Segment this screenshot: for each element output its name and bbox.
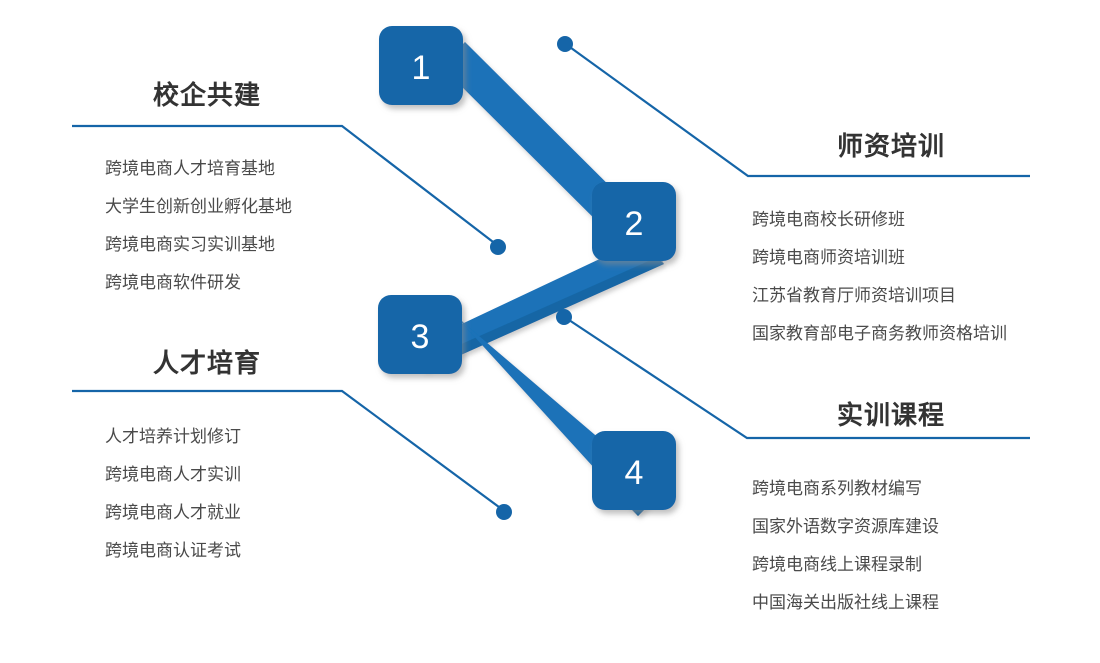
node-box-2-label: 2 bbox=[625, 205, 644, 243]
list-item: 跨境电商师资培训班 bbox=[752, 239, 1036, 277]
node-box-1-label: 1 bbox=[412, 49, 431, 87]
list-item: 跨境电商校长研修班 bbox=[752, 201, 1036, 239]
panel-training-course-heading: 实训课程 bbox=[746, 402, 1036, 428]
list-item: 跨境电商实习实训基地 bbox=[105, 226, 352, 264]
list-item: 中国海关出版社线上课程 bbox=[752, 584, 1036, 622]
list-item: 跨境电商人才实训 bbox=[105, 456, 352, 494]
node-box-3[interactable]: 3 bbox=[378, 295, 462, 374]
panel-school-enterprise-list: 跨境电商人才培育基地 大学生创新创业孵化基地 跨境电商实习实训基地 跨境电商软件… bbox=[105, 150, 352, 302]
node-box-3-label: 3 bbox=[411, 318, 430, 356]
list-item: 跨境电商系列教材编写 bbox=[752, 470, 1036, 508]
list-item: 江苏省教育厅师资培训项目 bbox=[752, 277, 1036, 315]
panel-training-course-list: 跨境电商系列教材编写 国家外语数字资源库建设 跨境电商线上课程录制 中国海关出版… bbox=[752, 470, 1036, 622]
panel-teacher-training-list: 跨境电商校长研修班 跨境电商师资培训班 江苏省教育厅师资培训项目 国家教育部电子… bbox=[752, 201, 1036, 353]
leader-dot-training-course bbox=[556, 309, 572, 325]
infographic-canvas: 1 2 3 4 bbox=[0, 0, 1100, 663]
list-item: 国家教育部电子商务教师资格培训 bbox=[752, 315, 1036, 353]
node-box-4-label: 4 bbox=[625, 454, 644, 492]
panel-talent-cultivation: 人才培育 人才培养计划修订 跨境电商人才实训 跨境电商人才就业 跨境电商认证考试 bbox=[62, 350, 352, 570]
panel-talent-cultivation-heading: 人才培育 bbox=[62, 350, 352, 376]
panel-teacher-training-heading: 师资培训 bbox=[746, 133, 1036, 159]
panel-school-enterprise-heading: 校企共建 bbox=[62, 82, 352, 108]
list-item: 跨境电商人才就业 bbox=[105, 494, 352, 532]
leader-dot-school-enterprise bbox=[490, 239, 506, 255]
list-item: 跨境电商软件研发 bbox=[105, 264, 352, 302]
leader-dot-teacher-training bbox=[557, 36, 573, 52]
list-item: 跨境电商人才培育基地 bbox=[105, 150, 352, 188]
node-box-4[interactable]: 4 bbox=[592, 431, 676, 510]
panel-training-course: 实训课程 跨境电商系列教材编写 国家外语数字资源库建设 跨境电商线上课程录制 中… bbox=[746, 402, 1036, 622]
panel-school-enterprise: 校企共建 跨境电商人才培育基地 大学生创新创业孵化基地 跨境电商实习实训基地 跨… bbox=[62, 82, 352, 302]
list-item: 跨境电商认证考试 bbox=[105, 532, 352, 570]
list-item: 跨境电商线上课程录制 bbox=[752, 546, 1036, 584]
panel-teacher-training: 师资培训 跨境电商校长研修班 跨境电商师资培训班 江苏省教育厅师资培训项目 国家… bbox=[746, 133, 1036, 353]
node-box-2[interactable]: 2 bbox=[592, 182, 676, 261]
list-item: 人才培养计划修订 bbox=[105, 418, 352, 456]
list-item: 大学生创新创业孵化基地 bbox=[105, 188, 352, 226]
list-item: 国家外语数字资源库建设 bbox=[752, 508, 1036, 546]
leader-dot-talent-cultivation bbox=[496, 504, 512, 520]
panel-talent-cultivation-list: 人才培养计划修订 跨境电商人才实训 跨境电商人才就业 跨境电商认证考试 bbox=[105, 418, 352, 570]
node-box-1[interactable]: 1 bbox=[379, 26, 463, 105]
